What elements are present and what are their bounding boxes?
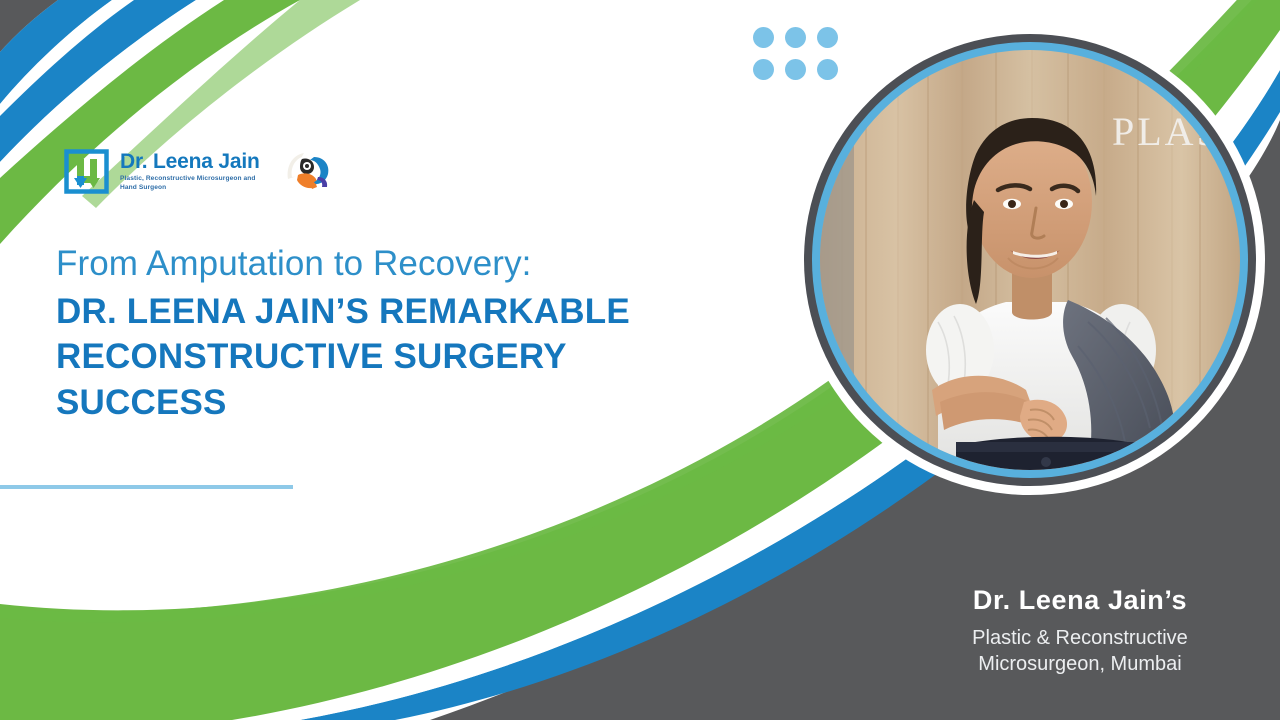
headline-underline-rule: [0, 485, 293, 489]
headline-line-2: Reconstructive Surgery: [56, 334, 756, 380]
presenter-role-line-2: Microsurgeon, Mumbai: [880, 651, 1280, 677]
headline-kicker: From Amputation to Recovery:: [56, 243, 756, 286]
logo-tagline: Plastic, Reconstructive Microsurgeon and…: [120, 175, 270, 193]
dot: [817, 27, 838, 48]
headline-line-1: Dr. Leena Jain’s Remarkable: [56, 289, 756, 335]
headline-line-3: Success: [56, 380, 756, 426]
logo-wordmark: Dr. Leena Jain Plastic, Reconstructive M…: [120, 151, 270, 193]
presenter-name: Dr. Leena Jain’s: [880, 585, 1280, 616]
hand-surgery-emblem-icon: [284, 149, 332, 195]
brand-logo-lockup[interactable]: Dr. Leena Jain Plastic, Reconstructive M…: [64, 148, 332, 196]
dot: [753, 27, 774, 48]
dot: [785, 59, 806, 80]
portrait-frame: PLASTIK: [795, 25, 1265, 495]
dot: [817, 59, 838, 80]
portrait-photo: PLASTIK: [820, 50, 1240, 470]
dr-leena-jain-logo-mark-icon: [64, 148, 110, 196]
promo-banner: PLASTIK: [0, 0, 1280, 720]
headline-main: Dr. Leena Jain’s Remarkable Reconstructi…: [56, 289, 756, 426]
dot: [753, 59, 774, 80]
presenter-role: Plastic & Reconstructive Microsurgeon, M…: [880, 625, 1280, 678]
presenter-caption: Dr. Leena Jain’s Plastic & Reconstructiv…: [880, 585, 1280, 678]
decorative-dot-grid: [753, 27, 849, 91]
dot: [785, 27, 806, 48]
portrait-illustration: PLASTIK: [820, 50, 1240, 470]
headline-block: From Amputation to Recovery: Dr. Leena J…: [56, 243, 756, 425]
presenter-role-line-1: Plastic & Reconstructive: [880, 625, 1280, 651]
logo-name: Dr. Leena Jain: [120, 151, 270, 173]
